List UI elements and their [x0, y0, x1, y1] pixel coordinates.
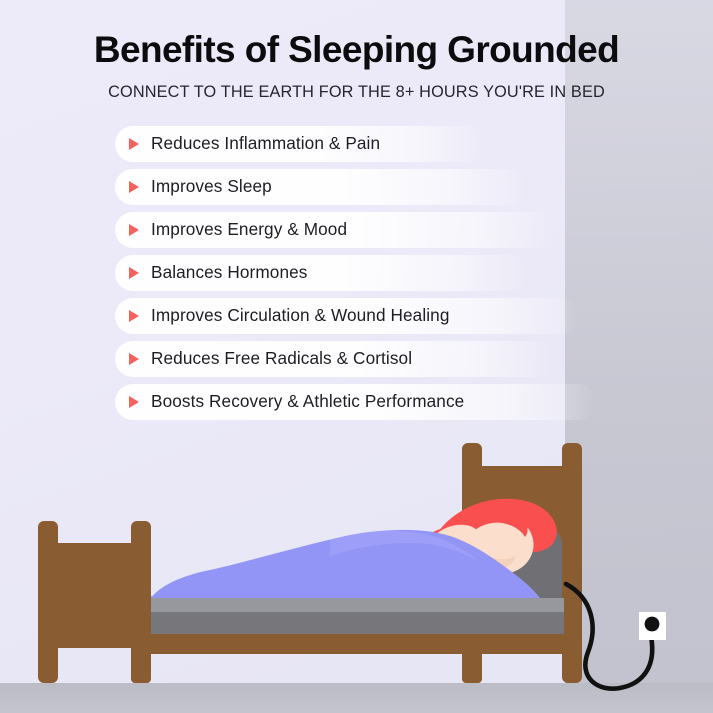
- poster-header: Benefits of Sleeping Grounded CONNECT TO…: [0, 0, 713, 102]
- triangle-right-icon: [129, 181, 139, 193]
- triangle-right-icon: [129, 138, 139, 150]
- benefit-label: Improves Circulation & Wound Healing: [151, 307, 449, 324]
- benefit-item: Improves Circulation & Wound Healing: [115, 298, 578, 334]
- page-subtitle: CONNECT TO THE EARTH FOR THE 8+ HOURS YO…: [0, 72, 713, 103]
- benefit-item: Reduces Free Radicals & Cortisol: [115, 341, 555, 377]
- benefit-item: Improves Sleep: [115, 169, 527, 205]
- page-title: Benefits of Sleeping Grounded: [0, 0, 713, 72]
- wall-outlet: [639, 612, 666, 640]
- benefit-item: Improves Energy & Mood: [115, 212, 555, 248]
- benefit-label: Reduces Inflammation & Pain: [151, 135, 380, 152]
- benefit-label: Improves Energy & Mood: [151, 221, 347, 238]
- benefit-item: Boosts Recovery & Athletic Performance: [115, 384, 596, 420]
- benefits-list: Reduces Inflammation & PainImproves Slee…: [115, 126, 596, 420]
- triangle-right-icon: [129, 353, 139, 365]
- triangle-right-icon: [129, 310, 139, 322]
- triangle-right-icon: [129, 224, 139, 236]
- triangle-right-icon: [129, 267, 139, 279]
- benefit-label: Balances Hormones: [151, 264, 307, 281]
- benefit-label: Reduces Free Radicals & Cortisol: [151, 350, 412, 367]
- infographic-poster: Benefits of Sleeping Grounded CONNECT TO…: [0, 0, 713, 713]
- benefit-label: Improves Sleep: [151, 178, 272, 195]
- benefit-item: Reduces Inflammation & Pain: [115, 126, 485, 162]
- benefit-item: Balances Hormones: [115, 255, 527, 291]
- benefit-label: Boosts Recovery & Athletic Performance: [151, 393, 464, 410]
- triangle-right-icon: [129, 396, 139, 408]
